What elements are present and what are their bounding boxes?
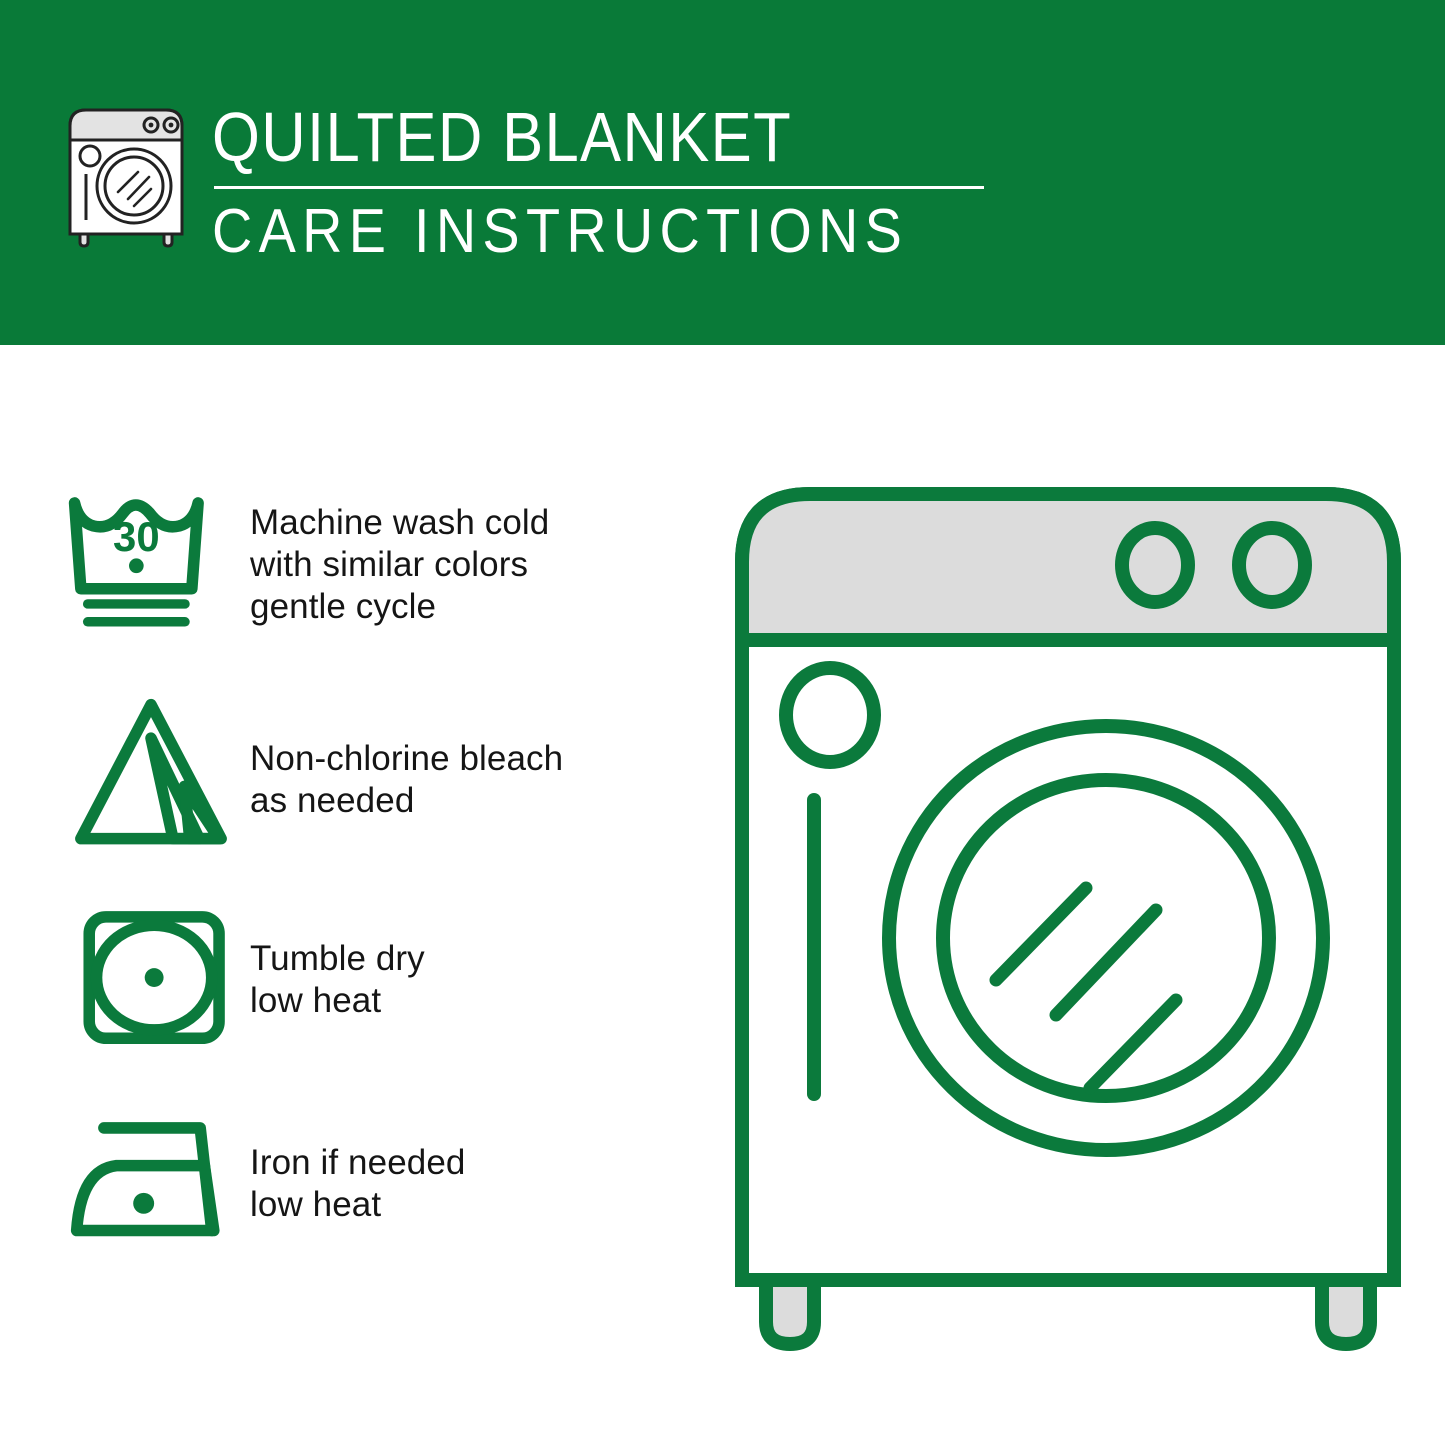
list-item-label: Machine wash cold with similar colors ge… (240, 486, 702, 628)
leg-left (766, 1280, 814, 1344)
title-divider (214, 186, 984, 189)
label-line: as needed (250, 780, 702, 822)
header-title-group: QUILTED BLANKET CARE INSTRUCTIONS (212, 98, 985, 265)
leg-right (1322, 1280, 1370, 1344)
list-item: Non-chlorine bleach as needed (62, 694, 702, 902)
washing-machine-icon (62, 98, 190, 248)
iron-low-heat-icon (62, 1110, 240, 1250)
tumble-dry-low-icon (62, 902, 240, 1052)
knob-left (1122, 528, 1188, 602)
label-line: Iron if needed (250, 1142, 702, 1184)
wash-tub-30-icon: 30 (62, 486, 240, 638)
page-subtitle: CARE INSTRUCTIONS (212, 199, 908, 265)
list-item: Tumble dry low heat (62, 902, 702, 1110)
label-line: Tumble dry (250, 938, 702, 980)
non-chlorine-bleach-triangle-icon (62, 694, 240, 854)
dispenser-circle (786, 668, 874, 762)
label-line: Machine wash cold (250, 502, 702, 544)
list-item: 30 Machine wash cold with similar colors… (62, 486, 702, 694)
instruction-list: 30 Machine wash cold with similar colors… (62, 486, 702, 1318)
label-line: low heat (250, 1184, 702, 1226)
list-item-label: Iron if needed low heat (240, 1110, 702, 1226)
washing-machine-illustration (718, 470, 1418, 1350)
knob-right (1239, 528, 1305, 602)
wash-temperature-label: 30 (113, 514, 160, 561)
door-inner-ring (943, 780, 1269, 1096)
list-item-label: Tumble dry low heat (240, 902, 702, 1022)
page-title: QUILTED BLANKET (212, 100, 893, 174)
label-line: Non-chlorine bleach (250, 738, 702, 780)
header-content: QUILTED BLANKET CARE INSTRUCTIONS (62, 98, 985, 265)
label-line: low heat (250, 980, 702, 1022)
header-band: QUILTED BLANKET CARE INSTRUCTIONS (0, 0, 1445, 345)
label-line: gentle cycle (250, 586, 702, 628)
care-instructions-poster: QUILTED BLANKET CARE INSTRUCTIONS 30 (0, 0, 1445, 1445)
label-line: with similar colors (250, 544, 702, 586)
list-item: Iron if needed low heat (62, 1110, 702, 1318)
list-item-label: Non-chlorine bleach as needed (240, 694, 702, 822)
